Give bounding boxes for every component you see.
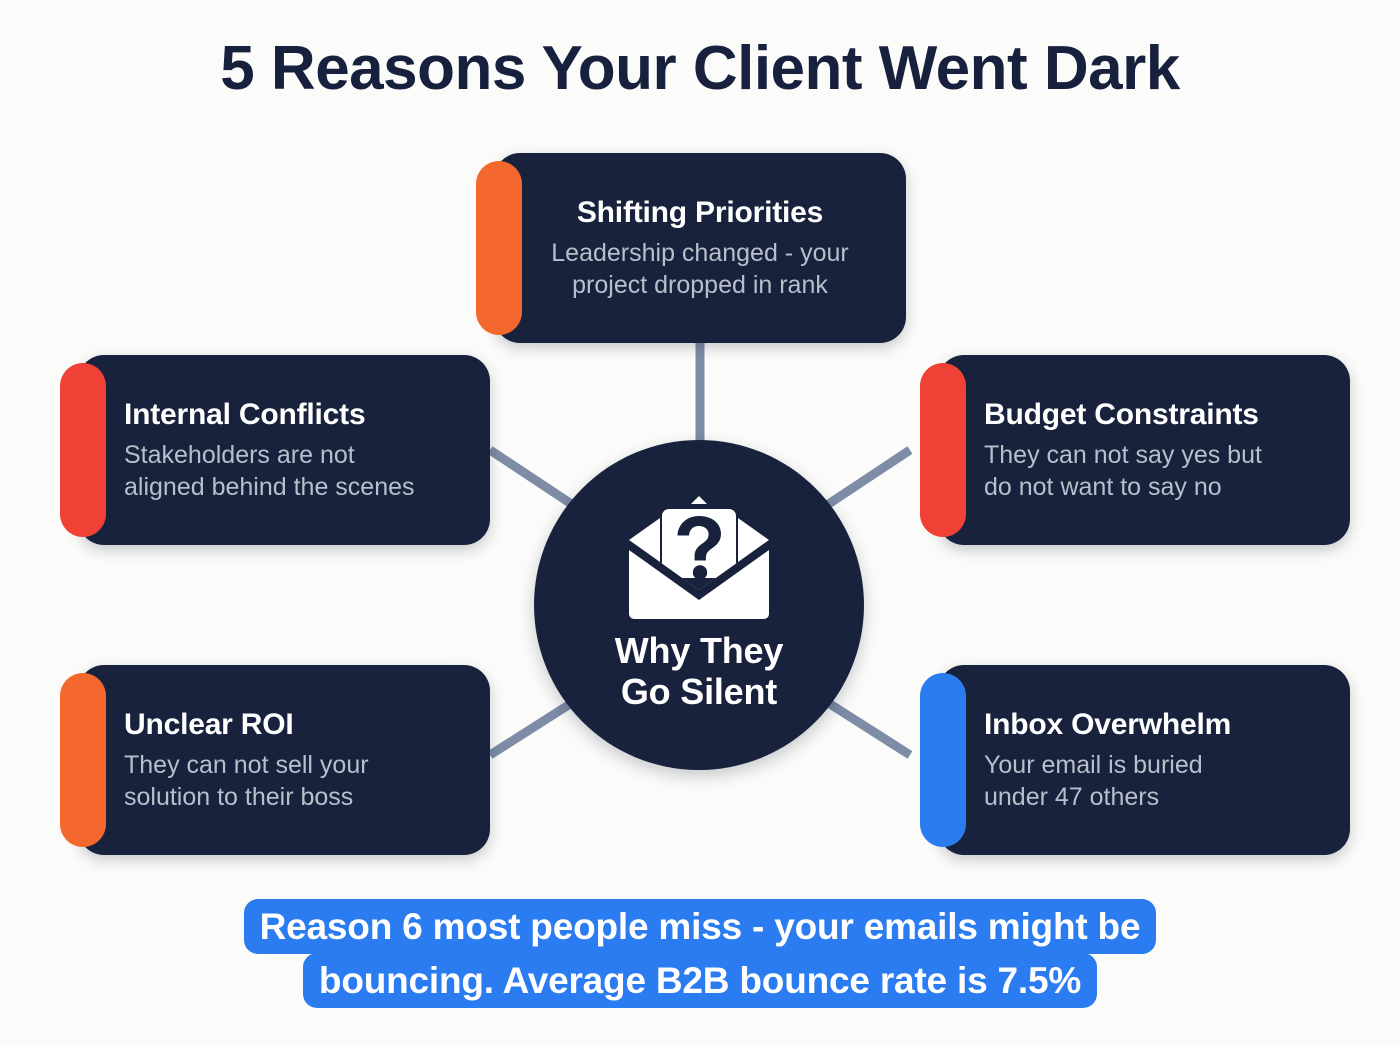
card-description-line1: Leadership changed - your <box>551 237 848 269</box>
card-accent-bar <box>920 673 966 847</box>
card-description-line1: They can not say yes but <box>984 439 1350 471</box>
banner-line2: bouncing. Average B2B bounce rate is 7.5… <box>303 953 1097 1008</box>
card-accent-bar <box>60 673 106 847</box>
bottom-banner: Reason 6 most people miss - your emails … <box>0 900 1400 1009</box>
card-description: They can not sell your solution to their… <box>124 749 490 813</box>
card-title: Inbox Overwhelm <box>984 707 1350 742</box>
card-title: Shifting Priorities <box>577 195 823 230</box>
envelope-question-icon <box>624 494 774 622</box>
card-inbox-overwhelm[interactable]: Inbox Overwhelm Your email is buried und… <box>938 665 1350 855</box>
infographic-canvas: 5 Reasons Your Client Went Dark Shifting… <box>0 0 1400 1045</box>
card-description: Leadership changed - your project droppe… <box>551 237 848 301</box>
card-accent-bar <box>60 363 106 537</box>
card-internal-conflicts[interactable]: Internal Conflicts Stakeholders are not … <box>78 355 490 545</box>
center-hub[interactable]: Why They Go Silent <box>534 440 864 770</box>
card-shifting-priorities[interactable]: Shifting Priorities Leadership changed -… <box>494 153 906 343</box>
card-title: Budget Constraints <box>984 397 1350 432</box>
card-description-line1: They can not sell your <box>124 749 490 781</box>
center-hub-label-line2: Go Silent <box>615 671 783 712</box>
card-title: Unclear ROI <box>124 707 490 742</box>
card-description: They can not say yes but do not want to … <box>984 439 1350 503</box>
center-hub-label: Why They Go Silent <box>615 630 783 713</box>
card-description-line1: Your email is buried <box>984 749 1350 781</box>
card-accent-bar <box>476 161 522 335</box>
card-title: Internal Conflicts <box>124 397 490 432</box>
card-description: Stakeholders are not aligned behind the … <box>124 439 490 503</box>
card-unclear-roi[interactable]: Unclear ROI They can not sell your solut… <box>78 665 490 855</box>
card-description: Your email is buried under 47 others <box>984 749 1350 813</box>
card-description-line2: under 47 others <box>984 781 1350 813</box>
card-description-line2: solution to their boss <box>124 781 490 813</box>
card-accent-bar <box>920 363 966 537</box>
banner-line1: Reason 6 most people miss - your emails … <box>244 899 1157 954</box>
card-description-line1: Stakeholders are not <box>124 439 490 471</box>
card-description-line2: aligned behind the scenes <box>124 471 490 503</box>
card-description-line2: project dropped in rank <box>551 269 848 301</box>
center-hub-label-line1: Why They <box>615 630 783 671</box>
card-description-line2: do not want to say no <box>984 471 1350 503</box>
card-budget-constraints[interactable]: Budget Constraints They can not say yes … <box>938 355 1350 545</box>
